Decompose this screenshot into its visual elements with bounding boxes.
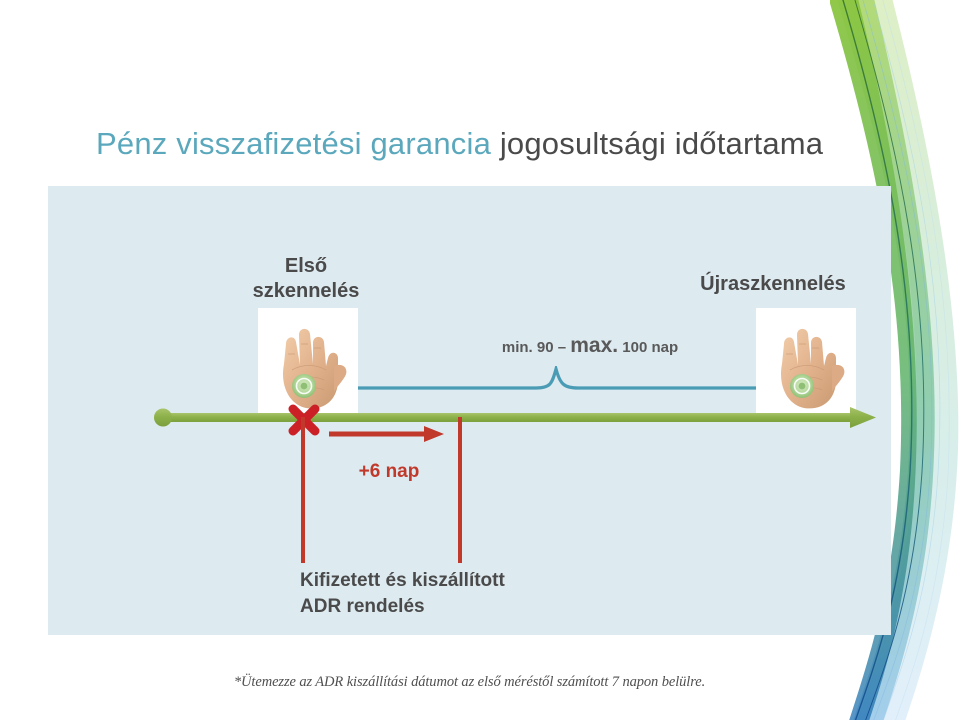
hand-illustration [756,308,856,414]
page-title: Pénz visszafizetési garancia jogosultság… [96,126,896,162]
drop-line-order-end [458,417,462,563]
duration-prefix: min. 90 – [502,339,570,356]
slide-canvas: Pénz visszafizetési garancia jogosultság… [0,0,960,720]
label-first-scan-line1: Első [216,254,396,279]
label-rescan: Újraszkennelés [668,272,878,297]
label-first-scan-line2: szkennelés [216,279,396,304]
hand-scan-photo-left [258,308,358,414]
footnote-text: *Ütemezze az ADR kiszállítási dátumot az… [48,674,891,691]
order-caption-line1: Kifizetett és kiszállított [300,568,720,594]
hand-scan-photo-right [756,308,856,414]
duration-brace [352,366,764,392]
label-first-scan: Első szkennelés [216,254,396,304]
order-caption: Kifizetett és kiszállított ADR rendelés [300,568,720,620]
offset-arrow [328,425,446,443]
order-caption-line2: ADR rendelés [300,594,720,620]
timeline-arrow [150,402,880,434]
drop-line-order-start [301,417,305,563]
title-plain-text: jogosultsági időtartama [491,126,823,161]
title-accent-text: Pénz visszafizetési garancia [96,126,491,161]
hand-illustration [258,308,358,414]
duration-label: min. 90 – max. 100 nap [430,334,750,358]
duration-suffix: 100 nap [618,339,678,356]
duration-emphasis: max. [570,334,618,357]
offset-label: +6 nap [326,461,452,483]
